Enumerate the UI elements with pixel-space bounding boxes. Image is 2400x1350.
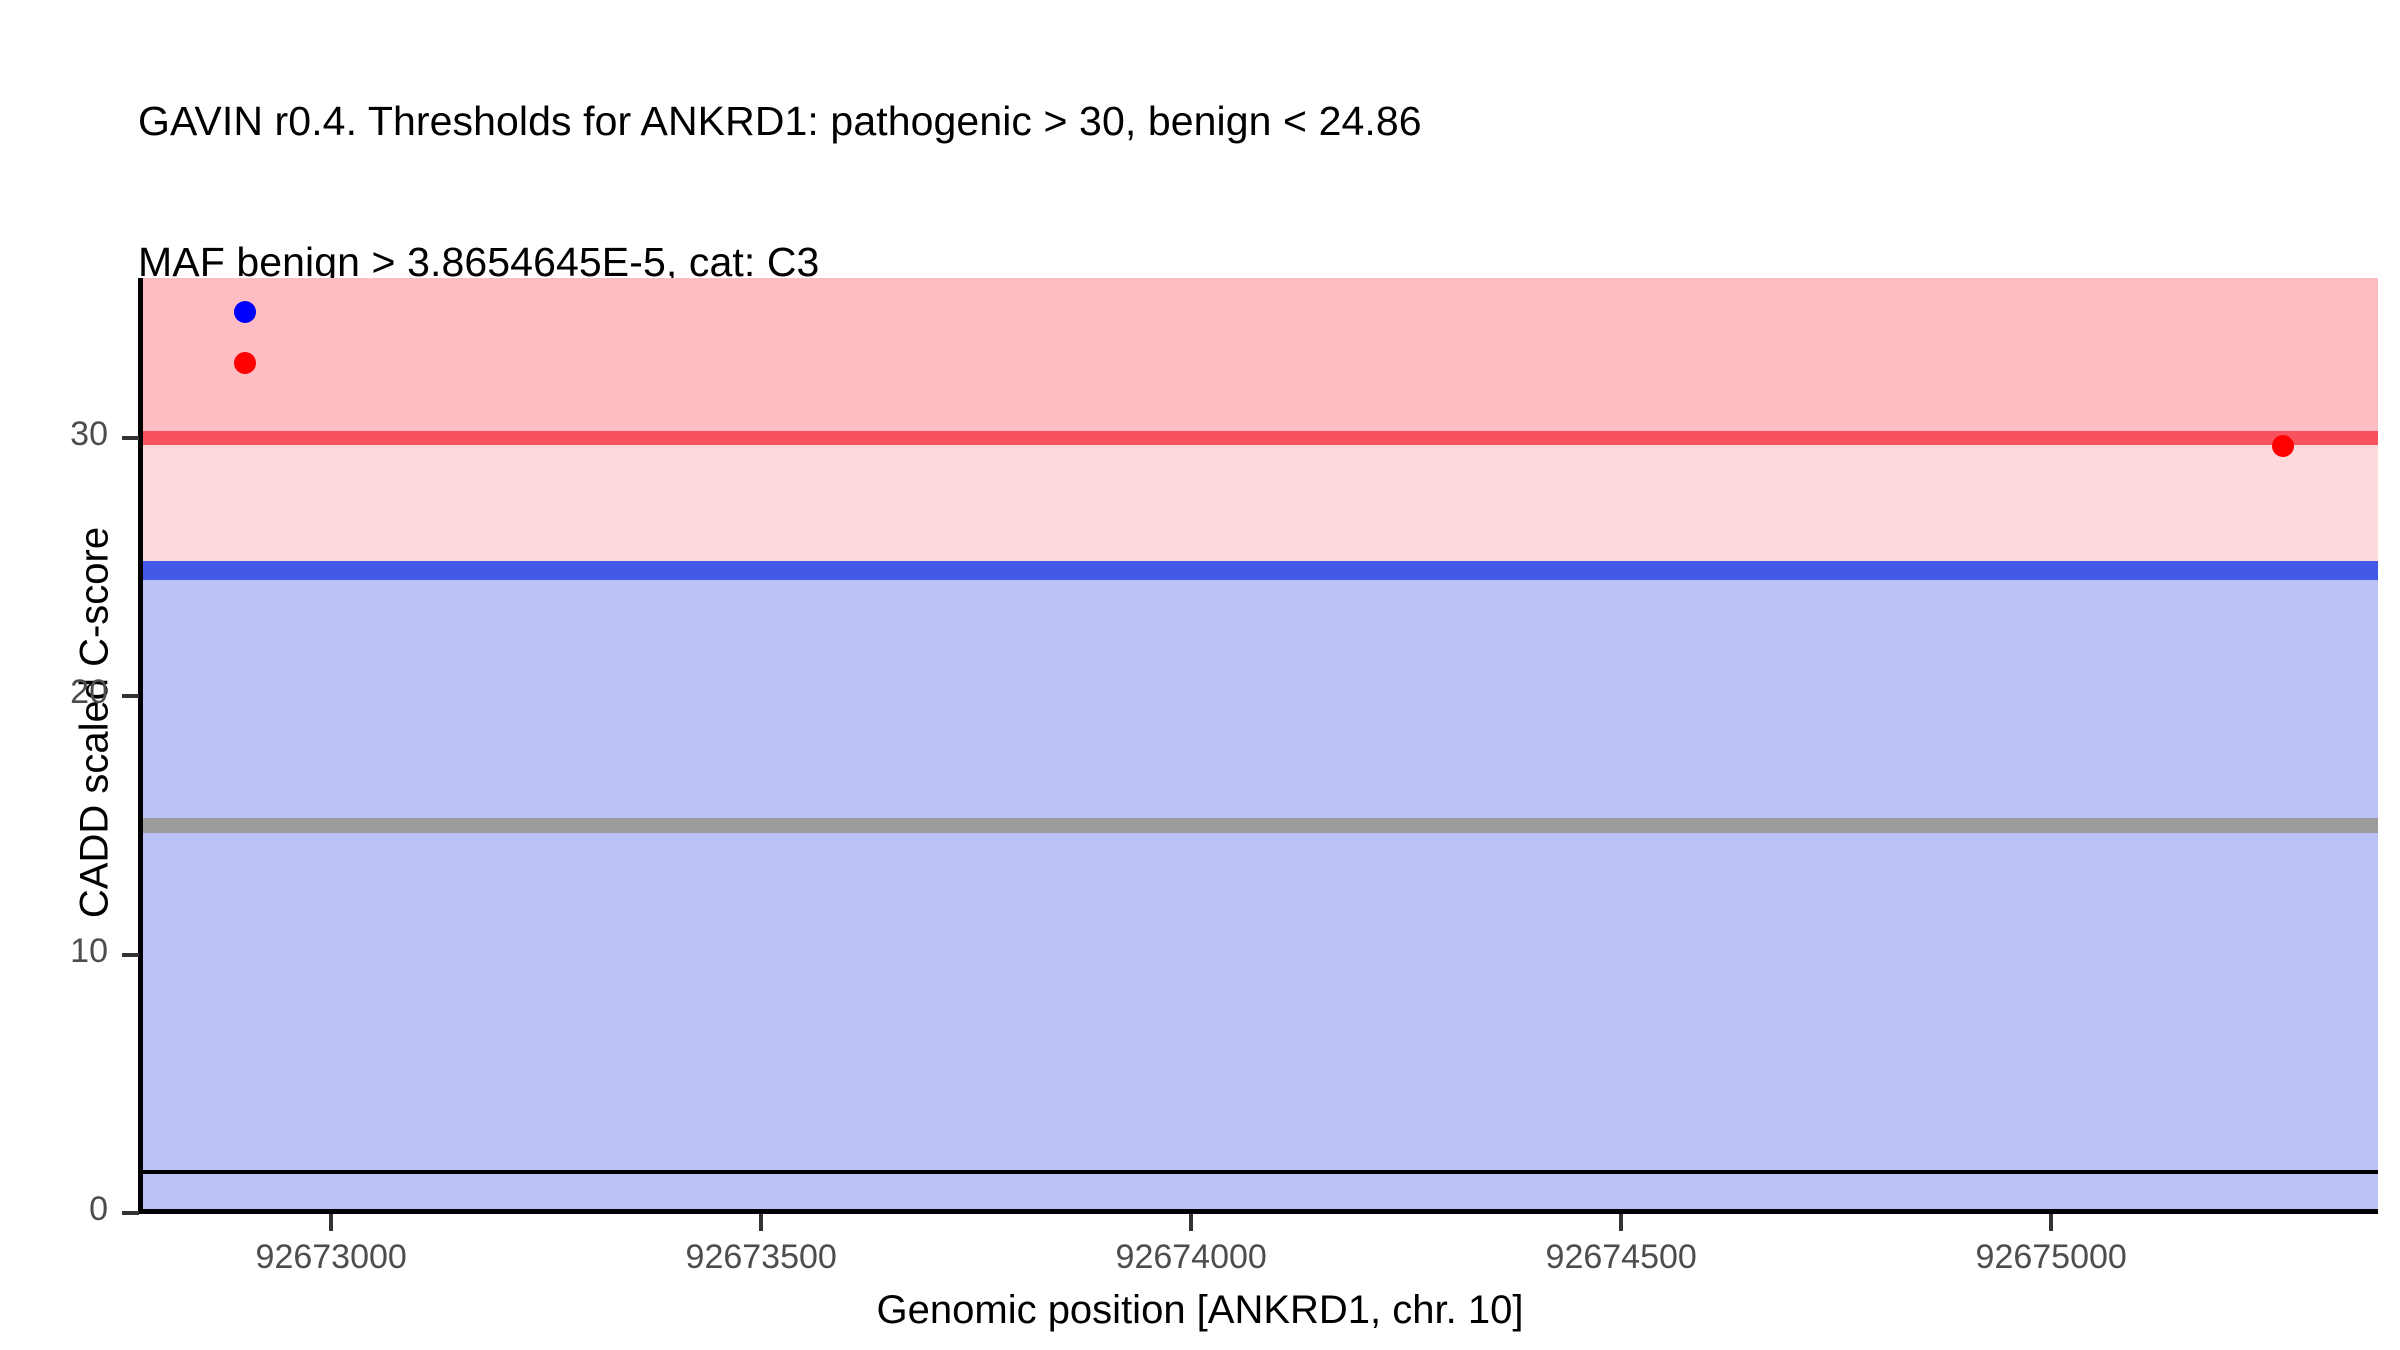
x-tick-label-92674000: 92674000 <box>1011 1238 1371 1277</box>
x-tick-92674000 <box>1189 1214 1193 1231</box>
baseline-zero-line <box>142 1170 2378 1174</box>
x-tick-label-92673500: 92673500 <box>581 1238 941 1277</box>
x-axis-line <box>138 1209 2378 1214</box>
data-point-gnomad <box>234 301 256 323</box>
plot-root: GAVIN r0.4. Thresholds for ANKRD1: patho… <box>0 0 2400 1350</box>
band-pathogenic-region <box>142 278 2378 438</box>
y-axis-line <box>138 278 143 1213</box>
y-tick-10 <box>122 953 139 957</box>
title-line-1: GAVIN r0.4. Thresholds for ANKRD1: patho… <box>138 98 2378 145</box>
x-tick-92673000 <box>329 1214 333 1231</box>
x-tick-92673500 <box>759 1214 763 1231</box>
band-ambiguous-region <box>142 438 2378 571</box>
x-tick-label-92675000: 92675000 <box>1871 1238 2231 1277</box>
threshold-line-genome-wide-fallback-threshold <box>142 818 2378 832</box>
y-tick-0 <box>122 1211 139 1215</box>
y-tick-label-10: 10 <box>0 932 108 971</box>
y-tick-label-20: 20 <box>0 673 108 712</box>
y-tick-20 <box>122 694 139 698</box>
band-benign-region <box>142 571 2378 1213</box>
x-tick-92674500 <box>1619 1214 1623 1231</box>
threshold-line-benign-threshold <box>142 561 2378 580</box>
y-tick-30 <box>122 436 139 440</box>
threshold-line-pathogenic-threshold <box>142 431 2378 445</box>
x-tick-92675000 <box>2049 1214 2053 1231</box>
x-tick-label-92674500: 92674500 <box>1441 1238 1801 1277</box>
y-tick-label-30: 30 <box>0 415 108 454</box>
plot-panel <box>142 278 2378 1213</box>
x-axis-title: Genomic position [ANKRD1, chr. 10] <box>0 1288 2400 1333</box>
x-tick-label-92673000: 92673000 <box>151 1238 511 1277</box>
y-tick-label-0: 0 <box>0 1190 108 1229</box>
